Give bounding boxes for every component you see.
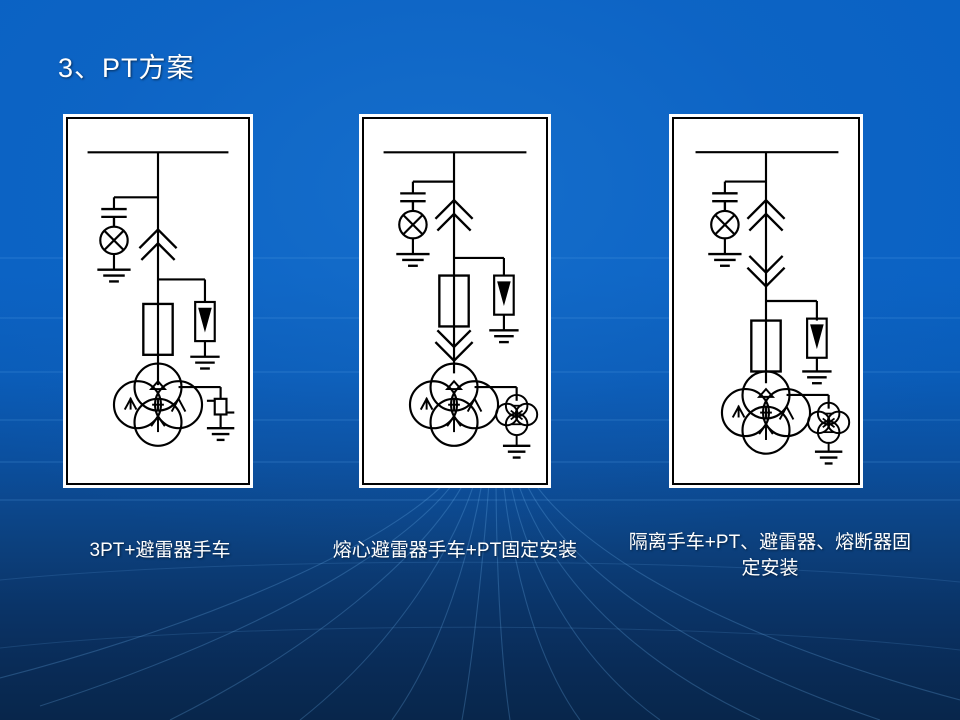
slide-canvas: 3、PT方案 — [0, 0, 960, 720]
small-transformer-clover-symbol — [496, 395, 537, 446]
ground-symbol — [815, 452, 842, 464]
capacitor-symbol — [400, 193, 425, 211]
voltage-transformer-symbol — [410, 364, 498, 446]
ground-symbol — [207, 428, 234, 440]
surge-arrester-symbol — [195, 302, 215, 357]
ground-symbol — [396, 254, 429, 266]
page-title: 3、PT方案 — [58, 46, 195, 85]
ground-symbol — [802, 371, 831, 383]
ground-symbol — [503, 446, 530, 458]
earthing-switch-symbol — [207, 399, 234, 428]
indicator-lamp-icon — [399, 211, 426, 254]
diagram-panel-scheme-1 — [66, 117, 250, 485]
small-transformer-clover-symbol — [808, 403, 849, 452]
voltage-transformer-symbol — [722, 371, 810, 453]
caption-scheme-1: 3PT+避雷器手车 — [40, 538, 280, 564]
circuit-diagram-scheme-3 — [674, 119, 858, 483]
circuit-diagram-scheme-2 — [364, 119, 546, 483]
ground-symbol — [708, 254, 741, 266]
capacitor-symbol — [712, 193, 737, 211]
caption-scheme-2: 熔心避雷器手车+PT固定安装 — [330, 538, 580, 564]
ground-symbol — [190, 357, 219, 369]
surge-arrester-symbol — [807, 319, 827, 372]
capacitor-symbol — [101, 209, 126, 227]
surge-arrester-symbol — [494, 276, 514, 331]
caption-scheme-3: 隔离手车+PT、避雷器、熔断器固定安装 — [625, 530, 915, 582]
diagram-panel-scheme-2 — [362, 117, 548, 485]
indicator-lamp-icon — [100, 227, 127, 270]
ground-symbol — [97, 270, 130, 282]
circuit-diagram-scheme-1 — [68, 119, 248, 483]
ground-symbol — [489, 330, 518, 342]
indicator-lamp-icon — [711, 211, 738, 254]
diagram-panel-scheme-3 — [672, 117, 860, 485]
